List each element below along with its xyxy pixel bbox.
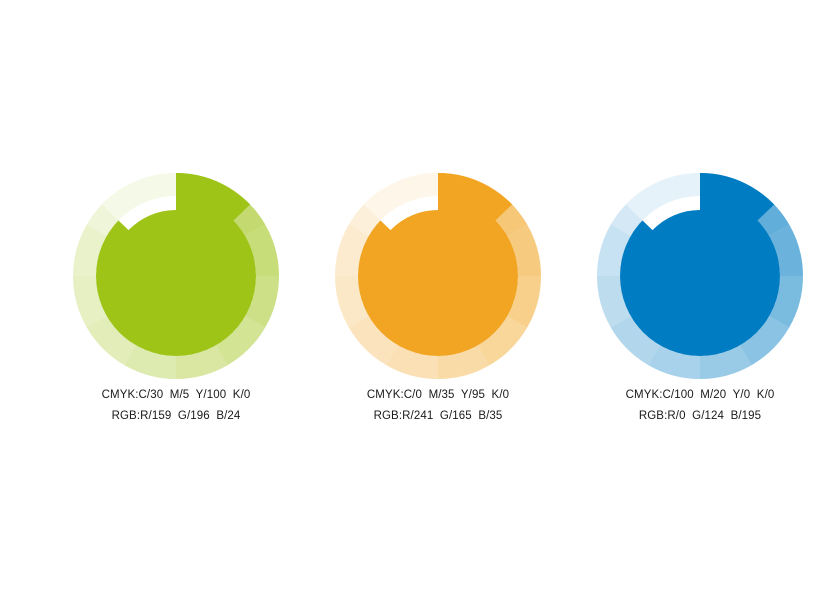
blue-color-wheel — [596, 172, 804, 380]
swatch-caption-green: CMYK:C/30 M/5 Y/100 K/0RGB:R/159 G/196 B… — [45, 390, 307, 422]
cmyk-value-green: CMYK:C/30 M/5 Y/100 K/0 — [45, 390, 307, 402]
swatch-caption-blue: CMYK:C/100 M/20 Y/0 K/0RGB:R/0 G/124 B/1… — [569, 390, 831, 422]
swatch-group-green: CMYK:C/30 M/5 Y/100 K/0RGB:R/159 G/196 B… — [45, 0, 307, 597]
cmyk-value-orange: CMYK:C/0 M/35 Y/95 K/0 — [307, 390, 569, 402]
cmyk-value-blue: CMYK:C/100 M/20 Y/0 K/0 — [569, 390, 831, 402]
green-color-wheel — [72, 172, 280, 380]
palette-board: CMYK:C/30 M/5 Y/100 K/0RGB:R/159 G/196 B… — [0, 0, 838, 597]
wheel-holder-orange — [307, 172, 569, 380]
swatch-group-orange: CMYK:C/0 M/35 Y/95 K/0RGB:R/241 G/165 B/… — [307, 0, 569, 597]
wheel-holder-green — [45, 172, 307, 380]
orange-color-wheel — [334, 172, 542, 380]
rgb-value-blue: RGB:R/0 G/124 B/195 — [569, 411, 831, 423]
swatch-caption-orange: CMYK:C/0 M/35 Y/95 K/0RGB:R/241 G/165 B/… — [307, 390, 569, 422]
rgb-value-green: RGB:R/159 G/196 B/24 — [45, 411, 307, 423]
swatch-group-blue: CMYK:C/100 M/20 Y/0 K/0RGB:R/0 G/124 B/1… — [569, 0, 831, 597]
rgb-value-orange: RGB:R/241 G/165 B/35 — [307, 411, 569, 423]
wheel-holder-blue — [569, 172, 831, 380]
